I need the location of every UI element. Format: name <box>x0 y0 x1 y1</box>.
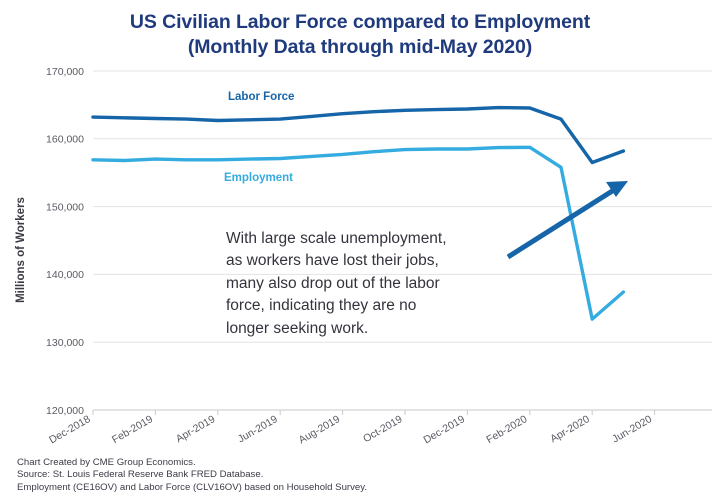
annotation-line-4: force, indicating they are no <box>226 295 516 317</box>
x-axis-tick-label: Apr-2020 <box>548 413 592 445</box>
annotation-line-3: many also drop out of the labor <box>226 273 516 295</box>
footnote-line-1: Chart Created by CME Group Economics. <box>17 457 617 469</box>
y-axis-tick-labels: 170,000160,000150,000140,000130,000120,0… <box>46 66 84 417</box>
series-label-employment: Employment <box>224 172 293 184</box>
annotation-line-1: With large scale unemployment, <box>226 228 516 250</box>
x-axis-tick-label: Jun-2019 <box>236 413 280 445</box>
annotation-line-5: longer seeking work. <box>226 318 516 340</box>
x-axis-tick-label: Feb-2020 <box>484 413 529 446</box>
x-axis-tick-label: Apr-2019 <box>174 413 218 445</box>
y-axis-title: Millions of Workers <box>15 197 27 303</box>
y-axis-tick-label: 140,000 <box>46 269 84 281</box>
x-axis-tick-label: Dec-2018 <box>47 413 93 446</box>
footnote-line-3: Employment (CE16OV) and Labor Force (CLV… <box>17 482 617 494</box>
x-axis-tick-label: Feb-2019 <box>110 413 155 446</box>
x-axis-tick-labels: Dec-2018Feb-2019Apr-2019Jun-2019Aug-2019… <box>47 413 654 446</box>
chart-container: US Civilian Labor Force compared to Empl… <box>0 0 720 500</box>
annotation-arrow <box>508 181 628 257</box>
annotation-line-2: as workers have lost their jobs, <box>226 250 516 272</box>
x-axis-tick-label: Aug-2019 <box>297 413 343 446</box>
y-axis-tick-label: 130,000 <box>46 337 84 349</box>
y-axis-tick-label: 120,000 <box>46 405 84 417</box>
y-axis-tick-label: 150,000 <box>46 201 84 213</box>
x-axis-tick-label: Jun-2020 <box>610 413 654 445</box>
annotation-text: With large scale unemployment, as worker… <box>226 228 516 340</box>
y-axis-tick-label: 160,000 <box>46 134 84 146</box>
x-axis-ticks <box>93 410 655 415</box>
y-axis-tick-label: 170,000 <box>46 66 84 78</box>
x-axis-tick-label: Oct-2019 <box>361 413 405 445</box>
x-axis-tick-label: Dec-2019 <box>421 413 467 446</box>
footnote: Chart Created by CME Group Economics. So… <box>17 457 617 494</box>
series-label-labor-force: Labor Force <box>228 91 294 103</box>
footnote-line-2: Source: St. Louis Federal Reserve Bank F… <box>17 469 617 481</box>
